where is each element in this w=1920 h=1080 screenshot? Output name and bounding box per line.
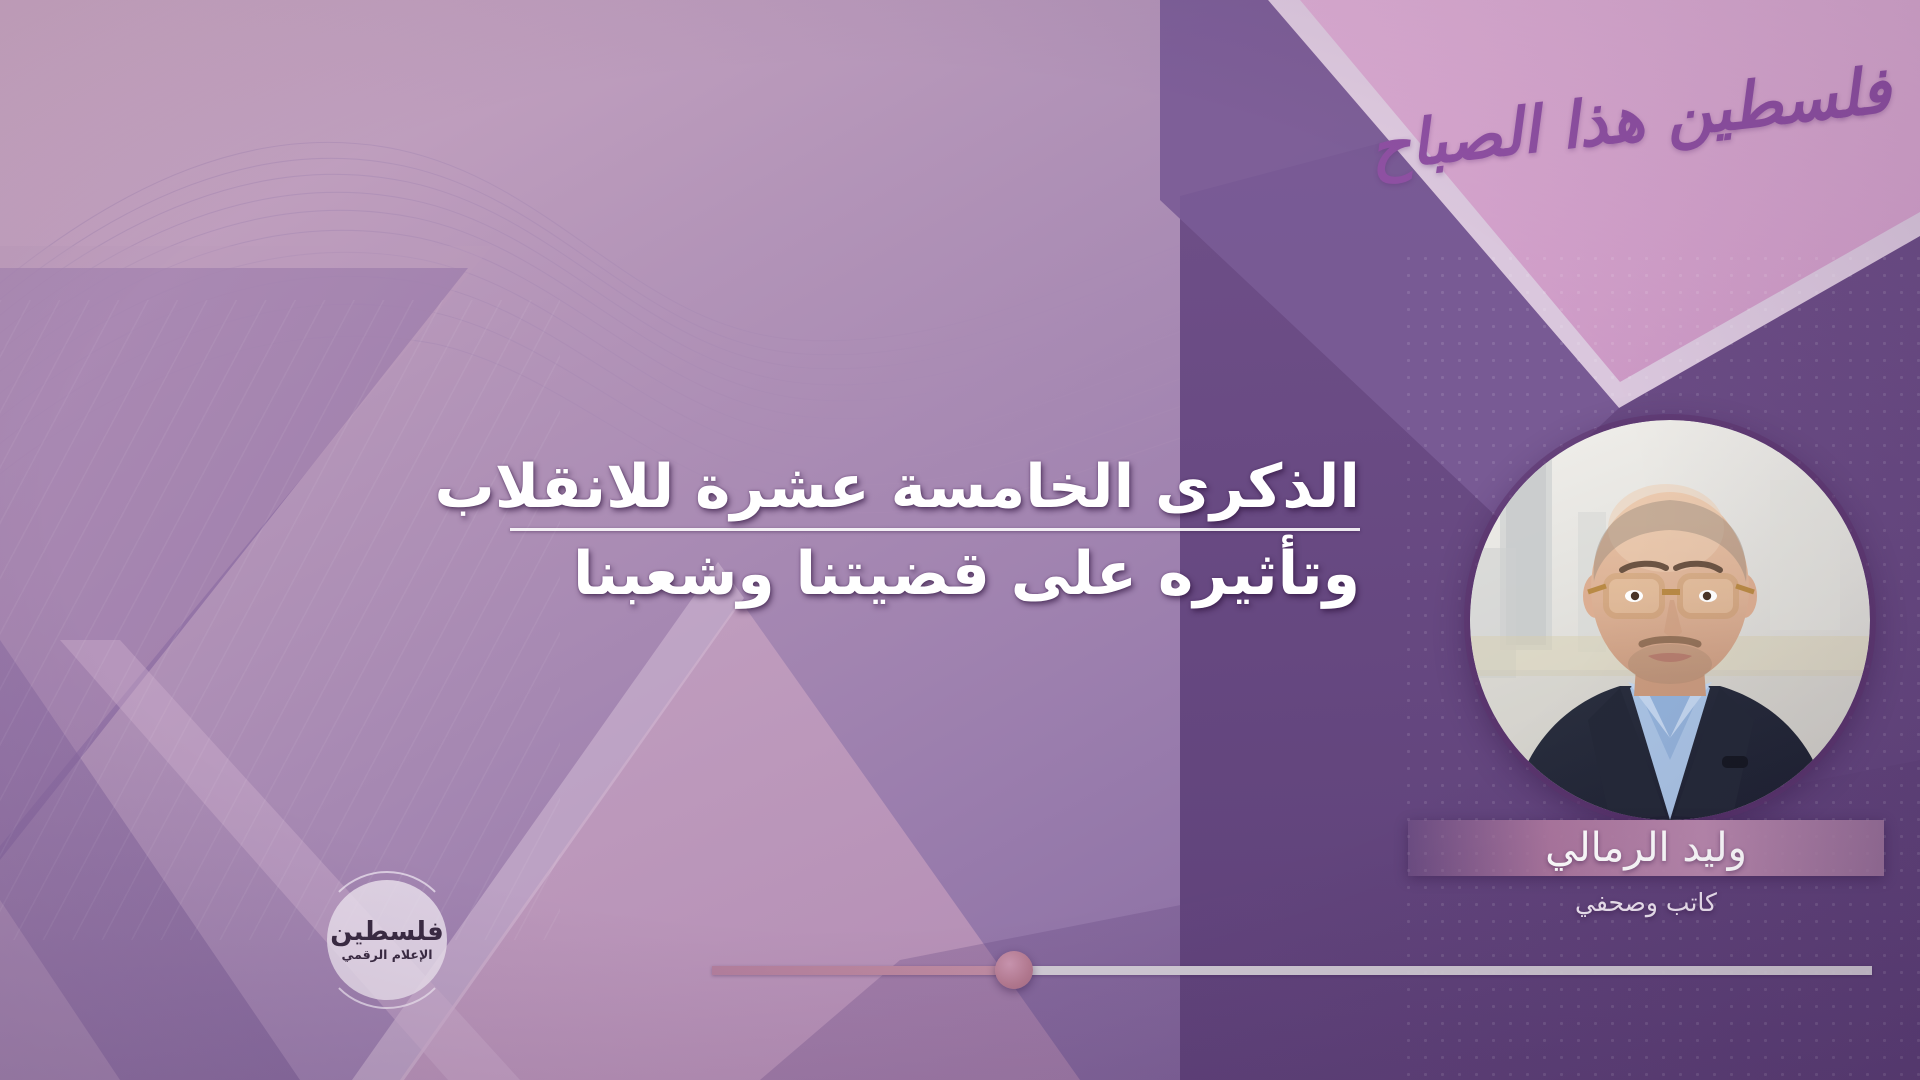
headline-line-1: الذكرى الخامسة عشرة للانقلاب	[510, 452, 1360, 522]
guest-name: وليد الرمالي	[1545, 825, 1747, 871]
watermark-title: فلسطين	[330, 919, 443, 945]
progress-fill	[712, 966, 1014, 975]
guest-portrait-image	[1470, 420, 1870, 820]
playback-progress-bar[interactable]	[712, 963, 1872, 977]
broadcast-graphic-stage: فلسطين هذا الصباح الذكرى الخامسة عشرة لل…	[0, 0, 1920, 1080]
headline-block: الذكرى الخامسة عشرة للانقلاب وتأثيره على…	[510, 452, 1360, 609]
guest-role: كاتب وصحفي	[1408, 888, 1884, 917]
channel-watermark: فلسطين الإعلام الرقمي	[327, 880, 447, 1000]
headline-divider	[510, 528, 1360, 531]
progress-handle[interactable]	[995, 951, 1033, 989]
watermark-subtitle: الإعلام الرقمي	[341, 949, 432, 962]
headline-line-2: وتأثيره على قضيتنا وشعبنا	[510, 539, 1360, 609]
guest-portrait	[1470, 420, 1870, 820]
guest-name-plate: وليد الرمالي	[1408, 820, 1884, 876]
